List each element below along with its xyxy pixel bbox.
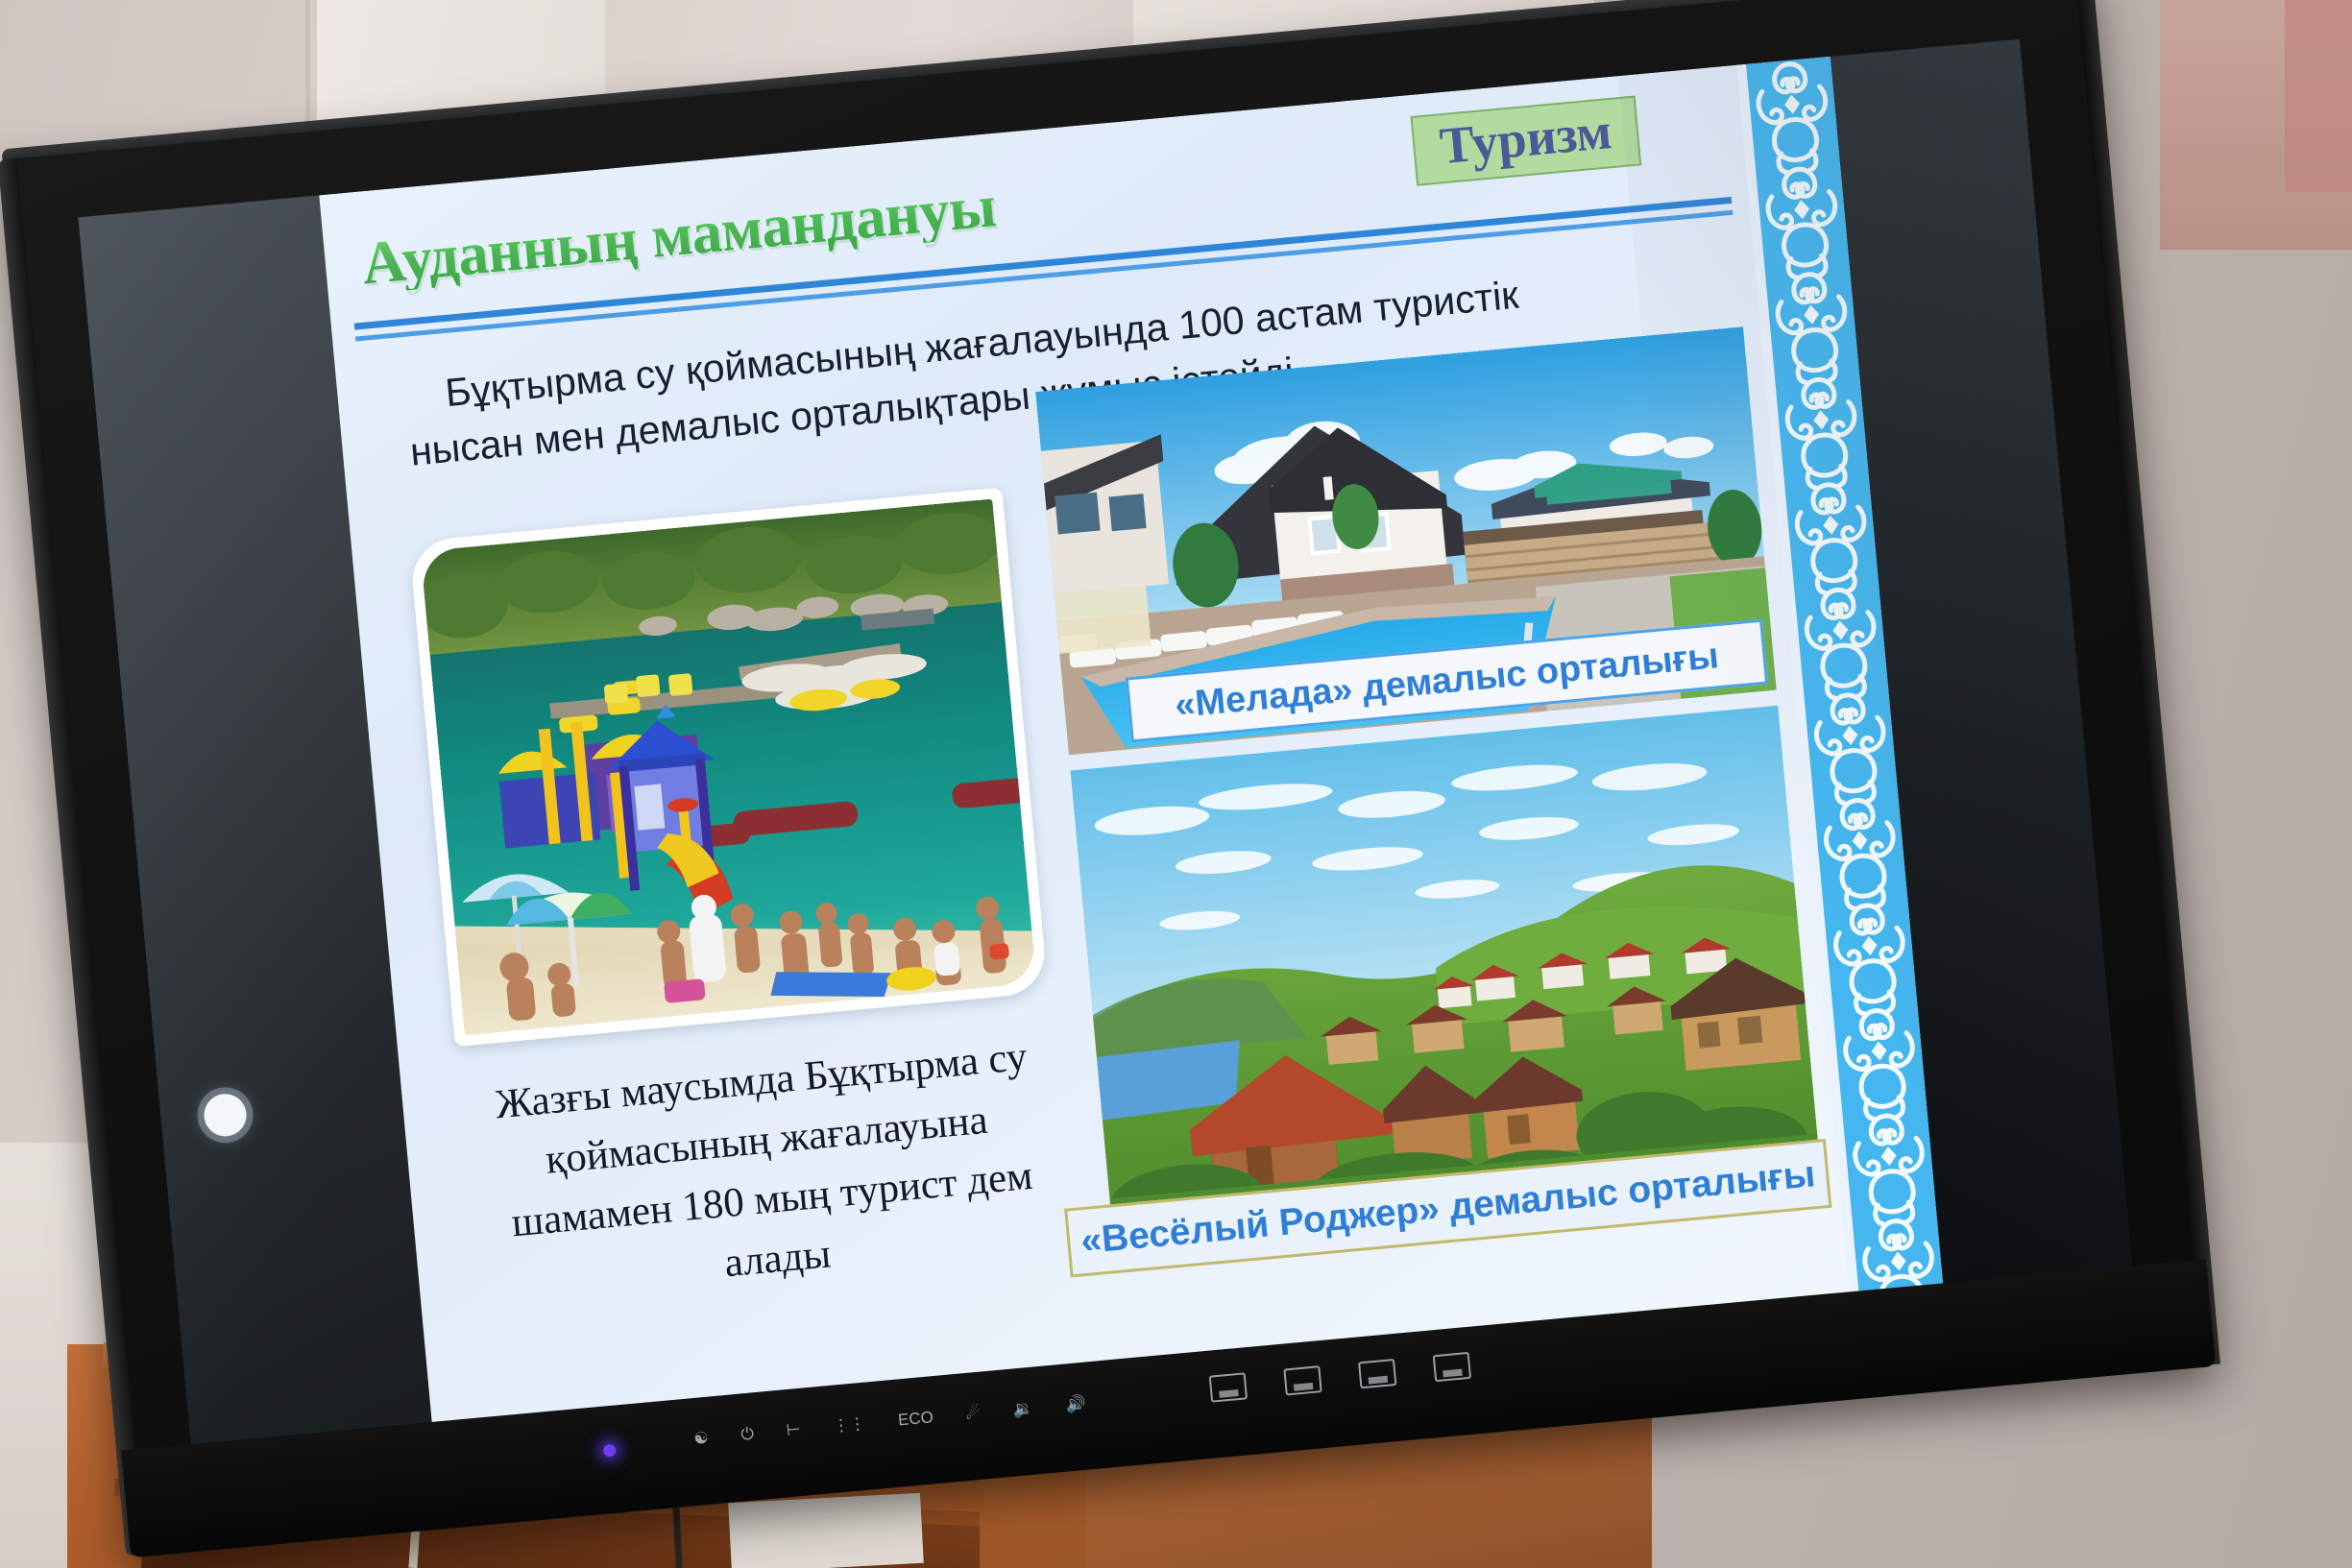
tv-screen: Ауданның мамандануы Туризм Бұқтырма су қ… [78, 39, 2133, 1451]
hdmi-port-icon [1283, 1365, 1321, 1395]
volume-down-icon[interactable]: 🔉 [1012, 1400, 1034, 1418]
summer-season-paragraph: Жазғы маусымда Бұқтырма су қоймасының жа… [452, 1024, 1086, 1316]
slide-content: Ауданның мамандануы Туризм Бұқтырма су қ… [319, 64, 1859, 1429]
picture-icon[interactable]: ☄ [965, 1405, 982, 1422]
topic-badge-label: Туризм [1438, 102, 1614, 175]
volume-up-icon[interactable]: 🔊 [1065, 1395, 1087, 1413]
lamp-icon[interactable]: ☯ [693, 1430, 710, 1447]
usb-port-icon [1433, 1352, 1471, 1382]
power-led[interactable] [603, 1444, 617, 1458]
topic-badge: Туризм [1410, 96, 1641, 186]
hdmi-port-icon [1209, 1372, 1248, 1402]
input-port-icon [1358, 1359, 1396, 1388]
eco-icon[interactable]: ECO [897, 1409, 934, 1428]
tv-control-icons[interactable]: ☯ ⏻ ⊢ ⋮⋮ ECO ☄ 🔉 🔊 [693, 1395, 1087, 1447]
menu-icon[interactable]: ⋮⋮ [833, 1415, 866, 1435]
input-icon[interactable]: ⊢ [786, 1421, 801, 1438]
wall-accent-pillar-inner [2285, 0, 2352, 192]
room-scene: Ауданның мамандануы Туризм Бұқтырма су қ… [0, 0, 2352, 1568]
television: Ауданның мамандануы Туризм Бұқтырма су қ… [0, 0, 2321, 1568]
power-icon[interactable]: ⏻ [740, 1425, 755, 1442]
tv-port-labels [1209, 1352, 1471, 1403]
beach-reservoir-photo [409, 488, 1049, 1048]
